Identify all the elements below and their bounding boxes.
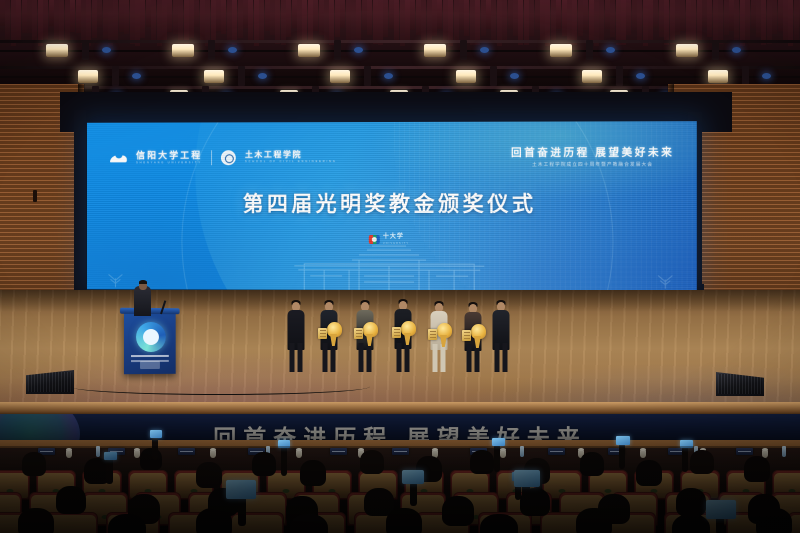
ceiling-plank <box>167 0 172 32</box>
ceiling-plank <box>508 0 513 29</box>
stage-light-fixture <box>298 44 320 57</box>
ceiling-plank <box>86 0 91 46</box>
hanging-light-unit <box>712 40 719 60</box>
ceiling-plank <box>59 0 64 46</box>
ceiling-plank <box>599 0 604 41</box>
table-nameplate <box>330 448 347 455</box>
table-nameplate <box>392 448 409 455</box>
tree-illustration-left <box>103 271 129 287</box>
ceiling-plank <box>70 0 75 32</box>
speaker-grill-left <box>28 372 72 392</box>
ceiling-plank <box>221 0 226 34</box>
ceiling-plank <box>281 0 286 45</box>
ceiling-plank <box>659 0 664 37</box>
ceiling-plank <box>248 0 253 40</box>
ceiling-plank <box>432 0 437 36</box>
ceiling-plank <box>454 0 459 42</box>
stage-light-fixture <box>330 70 350 83</box>
table-nameplate <box>178 448 195 455</box>
ceiling-plank <box>605 0 610 29</box>
water-bottle <box>520 446 524 457</box>
ceiling-plank <box>178 0 183 44</box>
ceiling-plank <box>373 0 378 44</box>
hanging-light-unit <box>82 40 89 60</box>
award-certificate <box>392 327 401 338</box>
blue-wash-light <box>132 73 141 79</box>
stage-light-fixture <box>550 44 572 57</box>
ceiling-plank <box>751 0 756 28</box>
speaker-hair <box>139 280 147 284</box>
award-recipient <box>428 301 450 372</box>
ceiling-plank <box>562 0 567 36</box>
ceiling-plank <box>718 0 723 44</box>
ceiling-plank <box>205 0 210 46</box>
raised-arm <box>682 446 688 472</box>
ceiling-plank <box>680 0 685 31</box>
ceiling-plank <box>427 0 432 45</box>
ceiling-plank <box>356 0 361 42</box>
tea-cup <box>66 450 72 458</box>
podium <box>124 312 176 374</box>
audience-member <box>18 508 54 533</box>
ceiling-plank <box>572 0 577 45</box>
ceiling-plank <box>27 0 32 33</box>
audience-member <box>576 508 612 533</box>
ceiling-plank <box>459 0 464 30</box>
ceiling-plank <box>670 0 675 44</box>
hanging-light-unit <box>742 66 749 86</box>
ceiling-plank <box>362 0 367 30</box>
ceiling-plank <box>529 0 534 36</box>
ceiling-plank <box>621 0 626 45</box>
award-recipient <box>318 300 340 372</box>
ceiling-plank <box>319 0 324 35</box>
ceiling-plank <box>616 0 621 45</box>
ceiling-plank <box>626 0 631 35</box>
ceiling-plank <box>119 0 124 32</box>
screen-headline-main: 回首奋进历程 展望美好未来 <box>511 147 674 158</box>
ceiling-plank <box>518 0 523 45</box>
ceiling-plank <box>383 0 388 37</box>
person-leg <box>331 343 336 372</box>
ceiling-plank <box>22 0 27 33</box>
audience-tablet[interactable] <box>226 480 256 499</box>
stage-light-fixture <box>456 70 476 83</box>
audience-member <box>676 488 706 516</box>
ceiling-plank <box>340 0 345 28</box>
ceiling-plank <box>729 0 734 31</box>
ceiling-plank <box>713 0 718 45</box>
ceiling-plank <box>394 0 399 41</box>
ceiling-plank <box>243 0 248 28</box>
person-leg <box>323 343 328 372</box>
ceiling-plank <box>367 0 372 35</box>
audience-member <box>290 514 328 533</box>
ceiling-plank <box>794 0 799 40</box>
person-leg <box>405 343 410 372</box>
award-certificate <box>318 328 327 339</box>
blue-wash-light <box>228 47 237 53</box>
raised-arm <box>106 458 113 484</box>
hanging-light-unit <box>334 40 341 60</box>
tea-cup <box>640 450 646 458</box>
table-nameplate <box>548 448 565 455</box>
wall-light-fixture-left <box>33 190 37 202</box>
audience-tablet[interactable] <box>514 470 540 487</box>
person-leg <box>290 343 295 372</box>
ceiling-plank <box>308 0 313 42</box>
blue-wash-light <box>258 73 267 79</box>
hanging-light-unit <box>112 66 119 86</box>
ceiling-plank <box>227 0 232 44</box>
ceiling-plank <box>702 0 707 28</box>
audience-member <box>636 460 662 486</box>
audience-phone[interactable] <box>150 430 162 438</box>
audience-phone[interactable] <box>278 440 290 448</box>
person-leg <box>298 343 303 372</box>
ceiling-plank <box>194 0 199 27</box>
ceiling-plank <box>270 0 275 35</box>
podium-logo <box>140 361 160 369</box>
ceiling-plank <box>475 0 480 45</box>
person-legs <box>396 343 411 372</box>
university-name-cn: 信阳大学工程 <box>136 151 202 160</box>
ceiling-plank <box>535 0 540 30</box>
stage-light-fixture <box>582 70 602 83</box>
blue-wash-light <box>510 73 519 79</box>
ceiling-plank <box>502 0 507 41</box>
award-certificate <box>428 329 437 340</box>
audience-member <box>580 452 604 476</box>
stage-light-fixture <box>78 70 98 83</box>
audience-member <box>470 450 494 474</box>
ceiling-plank <box>686 0 691 42</box>
audience-member <box>196 462 222 488</box>
ceiling-plank <box>211 0 216 43</box>
ceiling-plank <box>632 0 637 30</box>
ceiling-plank <box>637 0 642 42</box>
ceiling-plank <box>324 0 329 44</box>
stage-light-fixture <box>172 44 194 57</box>
ceiling-plank <box>49 0 54 26</box>
ceiling-plank <box>238 0 243 38</box>
ceiling-plank <box>610 0 615 37</box>
screen-center-badge: 十大学 UNIVERSITY <box>369 234 409 245</box>
school-seal-icon <box>221 150 236 165</box>
audience-tablet[interactable] <box>402 470 424 484</box>
ceiling-plank <box>443 0 448 41</box>
raised-arm <box>619 443 625 469</box>
audience-member <box>744 456 770 482</box>
ceiling-plank <box>589 0 594 42</box>
ceiling-plank <box>259 0 264 42</box>
award-recipient <box>392 299 414 372</box>
hanging-light-unit <box>616 66 623 86</box>
ceiling-plank <box>470 0 475 45</box>
blue-wash-light <box>102 47 111 53</box>
ceiling-plank <box>43 0 48 39</box>
person-legs <box>432 344 447 372</box>
ceiling-plank <box>724 0 729 35</box>
hanging-light-unit <box>238 66 245 86</box>
audience-phone[interactable] <box>680 440 693 448</box>
person-leg <box>441 344 446 372</box>
person-legs <box>322 343 337 372</box>
person-leg <box>397 343 402 372</box>
truss-bar <box>0 76 800 78</box>
water-bottle <box>782 446 786 457</box>
ceiling-plank <box>103 0 108 39</box>
ceiling-plank <box>335 0 340 37</box>
person-leg <box>433 344 438 372</box>
audience-phone[interactable] <box>492 438 505 446</box>
audience-member <box>22 452 46 476</box>
ceiling-plank <box>124 0 129 34</box>
hanging-light-unit <box>208 40 215 60</box>
hanging-light-unit <box>586 40 593 60</box>
ceiling-plank <box>783 0 788 42</box>
audience-member <box>56 486 86 514</box>
ceiling-plank <box>675 0 680 35</box>
ceiling-plank <box>81 0 86 44</box>
ceiling-plank <box>410 0 415 30</box>
ceiling-plank <box>778 0 783 31</box>
ceiling-plank <box>76 0 81 33</box>
ceiling-plank <box>173 0 178 34</box>
hanging-light-unit <box>364 66 371 86</box>
speaker-grill-right <box>718 374 762 394</box>
ceiling-plank <box>38 0 43 46</box>
person-leg <box>467 344 472 372</box>
logo-divider <box>211 150 212 165</box>
ceiling-plank <box>157 0 162 46</box>
audience-member <box>386 508 422 533</box>
audience-member <box>672 514 710 533</box>
raised-arm <box>522 484 530 510</box>
ceiling-plank <box>421 0 426 45</box>
ceiling-plank <box>707 0 712 37</box>
ceiling-plank <box>567 0 572 45</box>
person-leg <box>495 343 500 372</box>
stage-light-fixture <box>204 70 224 83</box>
tree-illustration-right <box>652 273 678 289</box>
raised-arm <box>410 482 417 506</box>
ceiling-plank <box>767 0 772 44</box>
audience-member <box>196 508 232 533</box>
person-leg <box>359 343 364 372</box>
audience-member <box>108 514 146 533</box>
audience-member <box>360 450 384 474</box>
person-legs <box>289 343 304 372</box>
ceiling-plank <box>734 0 739 42</box>
ceiling-plank <box>761 0 766 45</box>
audience-member <box>300 460 326 486</box>
audience-phone[interactable] <box>104 452 117 460</box>
ceiling-plank <box>346 0 351 41</box>
ceiling-plank <box>745 0 750 40</box>
podium-disc-graphic <box>136 322 166 352</box>
ceiling-plank <box>772 0 777 34</box>
screen-headline-block: 回首奋进历程 展望美好未来 土木工程学院成立四十周年暨产教融合发展大会 <box>511 147 674 166</box>
stage-cable <box>70 378 370 395</box>
ceiling-plank <box>113 0 118 43</box>
ceiling-plank <box>146 0 151 27</box>
ceiling-plank <box>11 0 16 46</box>
award-certificate <box>462 330 471 341</box>
school-name-en: SCHOOL OF CIVIL ENGINEERING <box>245 161 337 164</box>
ceiling-plank <box>286 0 291 37</box>
university-emblem-icon <box>111 152 128 163</box>
blue-wash-light <box>732 47 741 53</box>
ceiling-plank <box>200 0 205 40</box>
ceiling-plank <box>524 0 529 45</box>
ceiling-plank <box>297 0 302 40</box>
audience-member <box>252 452 276 476</box>
ceiling-plank <box>135 0 140 46</box>
university-name-en: SHENYANG UNIVERSITY <box>136 162 202 165</box>
ceiling-plank <box>189 0 194 38</box>
screen-logo-row: 信阳大学工程 SHENYANG UNIVERSITY 土木工程学院 SCHOOL… <box>111 150 337 165</box>
audience-member <box>480 514 518 533</box>
ceiling-plank <box>416 0 421 35</box>
ceiling-plank <box>648 0 653 41</box>
raised-arm <box>281 446 287 476</box>
school-name-cn: 土木工程学院 <box>245 151 337 159</box>
ceiling-plank <box>513 0 518 36</box>
ceiling-plank <box>130 0 135 44</box>
ceiling-plank <box>140 0 145 38</box>
screen-frame-left <box>74 110 86 296</box>
person-leg <box>367 343 372 372</box>
ceiling-plank <box>697 0 702 40</box>
blue-wash-light <box>762 73 771 79</box>
water-bottle <box>96 446 100 457</box>
led-stage-screen: 信阳大学工程 SHENYANG UNIVERSITY 土木工程学院 SCHOOL… <box>87 121 697 291</box>
raised-arm <box>152 436 158 460</box>
blue-wash-light <box>480 47 489 53</box>
seat-emblem-icon <box>605 489 612 493</box>
person-leg <box>503 343 508 372</box>
ceiling-plank <box>313 0 318 31</box>
podium-speaker-person <box>134 286 151 316</box>
auditorium-stage-photo: 信阳大学工程 SHENYANG UNIVERSITY 土木工程学院 SCHOOL… <box>0 0 800 533</box>
ceiling-plank <box>540 0 545 41</box>
audience-member <box>442 496 474 526</box>
ceiling-plank <box>275 0 280 44</box>
ceiling-plank <box>556 0 561 29</box>
ceiling-plank <box>378 0 383 45</box>
audience-phone[interactable] <box>616 436 630 445</box>
ceiling-plank <box>0 0 5 26</box>
ceiling-plank <box>756 0 761 37</box>
ceiling-plank <box>54 0 59 39</box>
audience-member <box>140 448 162 470</box>
podium-title-line-1 <box>131 355 169 357</box>
blue-wash-light <box>354 47 363 53</box>
ceiling-plank <box>329 0 334 45</box>
award-recipient <box>354 300 376 372</box>
lighting-truss <box>0 40 800 43</box>
ceiling-plank <box>162 0 167 43</box>
ceiling-plank <box>97 0 102 27</box>
audience-member <box>690 450 714 474</box>
ceiling-plank <box>653 0 658 28</box>
person-legs <box>494 343 509 372</box>
person-legs <box>466 344 481 372</box>
ceiling-plank <box>788 0 793 46</box>
stage-light-fixture <box>46 44 68 57</box>
screen-main-title: 第四届光明奖教金颁奖仪式 <box>87 188 697 218</box>
ceiling-plank <box>65 0 70 43</box>
ceiling-plank <box>551 0 556 41</box>
ceiling-plank <box>32 0 37 43</box>
ceiling-plank <box>437 0 442 29</box>
raised-arm <box>238 496 246 526</box>
screen-headline-sub: 土木工程学院成立四十周年暨产教融合发展大会 <box>511 162 674 167</box>
official-in-suit <box>285 300 307 372</box>
stage-light-fixture <box>676 44 698 57</box>
ceiling-plank <box>481 0 486 36</box>
hanging-light-unit <box>460 40 467 60</box>
official-in-suit <box>490 300 512 372</box>
lighting-truss <box>0 66 800 69</box>
award-certificate <box>354 328 363 339</box>
ceiling-plank <box>232 0 237 45</box>
audience-tablet[interactable] <box>706 500 736 519</box>
table-nameplate <box>736 448 753 455</box>
ceiling-plank <box>491 0 496 41</box>
ceiling-plank <box>664 0 669 45</box>
blue-wash-light <box>384 73 393 79</box>
center-badge-icon <box>369 235 380 244</box>
campus-gate-illustration <box>265 244 515 290</box>
ceiling-plank <box>16 0 21 43</box>
blue-wash-light <box>636 73 645 79</box>
ceiling-plank <box>292 0 297 28</box>
raised-arm <box>494 444 500 472</box>
ceiling-plank <box>265 0 270 31</box>
stage-light-fixture <box>424 44 446 57</box>
audience-member <box>756 508 792 533</box>
blue-wash-light <box>606 47 615 53</box>
ceiling-plank <box>151 0 156 40</box>
ceiling-plank <box>389 0 394 29</box>
ceiling-plank <box>405 0 410 42</box>
award-recipient <box>462 302 484 372</box>
tea-cup <box>210 450 216 458</box>
tea-cup <box>296 450 302 458</box>
ceiling-plank <box>583 0 588 30</box>
center-badge-text: 十大学 <box>383 234 409 240</box>
ceiling-plank <box>578 0 583 36</box>
stage-light-fixture <box>708 70 728 83</box>
ceiling-plank <box>464 0 469 36</box>
ceiling-plank <box>5 0 10 39</box>
ceiling-plank <box>486 0 491 29</box>
person-leg <box>475 344 480 372</box>
ceiling-plank <box>108 0 113 46</box>
person-legs <box>358 343 373 372</box>
tea-cup <box>500 450 506 458</box>
ceiling-plank <box>216 0 221 31</box>
ceiling-plank <box>184 0 189 45</box>
ceiling-plank <box>92 0 97 38</box>
hanging-light-unit <box>490 66 497 86</box>
